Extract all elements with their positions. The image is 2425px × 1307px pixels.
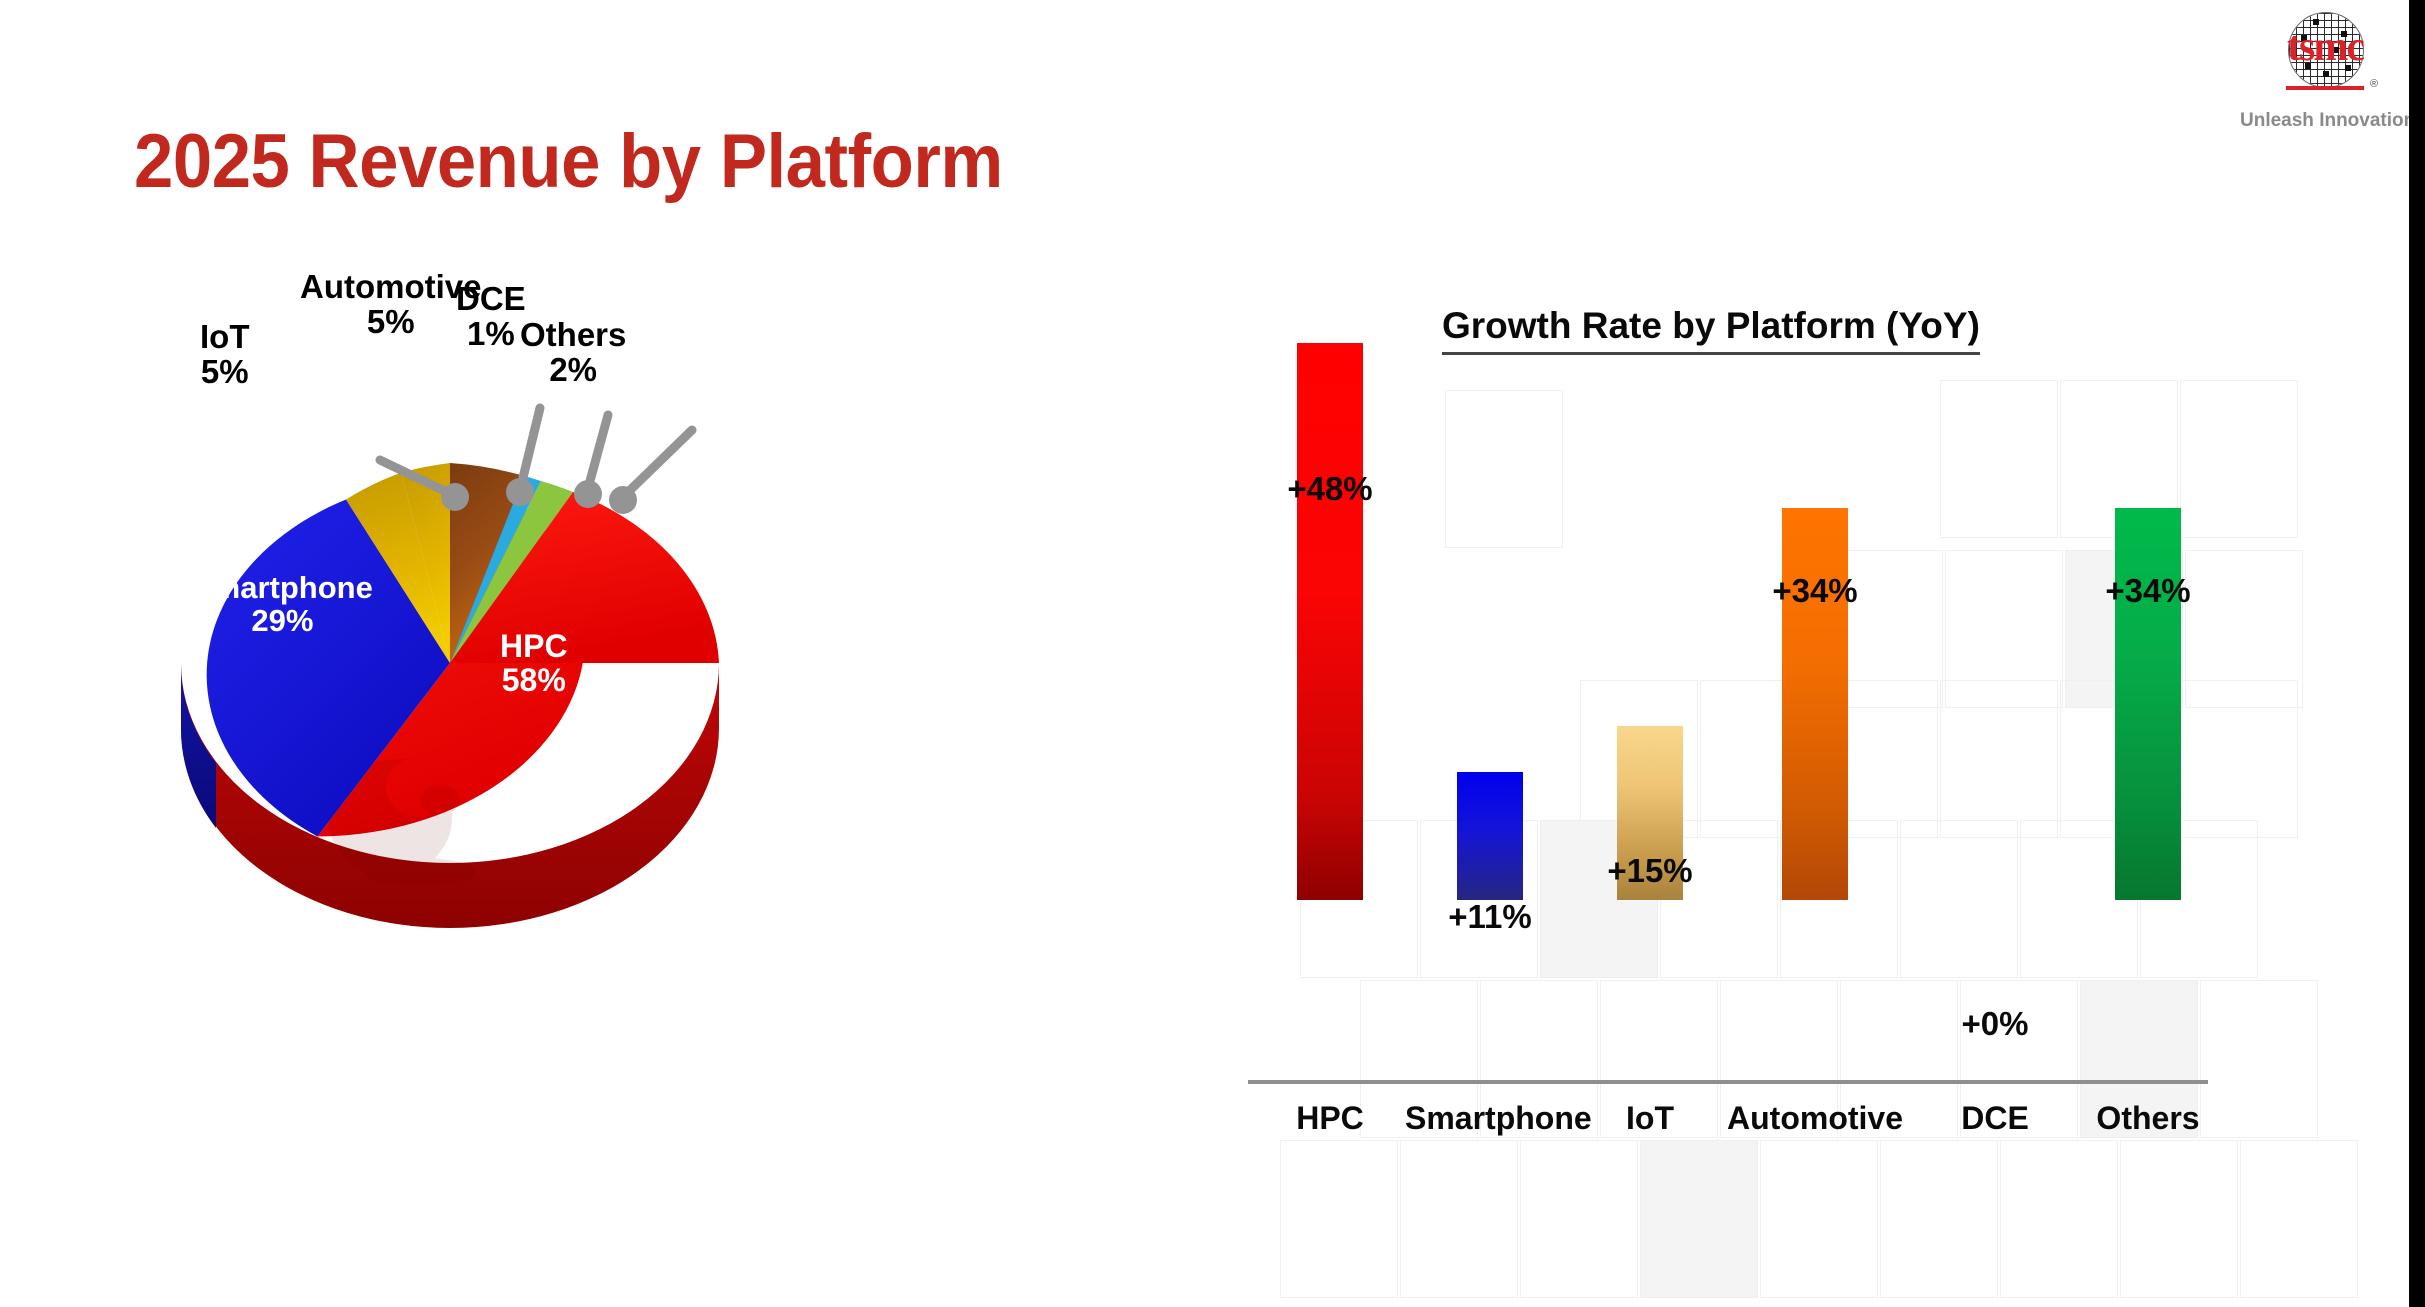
pie-label-automotive-pct: 5% [300,305,482,340]
pie-label-automotive: Automotive 5% [300,270,482,340]
pie-label-dce: DCE 1% [456,282,526,352]
bar-value-hpc: +48% [1260,470,1400,508]
pie-label-iot: IoT 5% [200,320,249,390]
bar-others[interactable] [2115,508,2181,900]
pie-label-dce-name: DCE [456,280,526,317]
pie-label-others: Others 2% [520,318,626,388]
pie-label-smartphone-name: Smartphone [192,570,373,605]
pie-label-others-pct: 2% [520,353,626,388]
pie-label-iot-name: IoT [200,318,249,355]
pie-label-hpc: HPC 58% [500,630,568,698]
growth-rate-bar-chart: Growth Rate by Platform (YoY) +48% HPC +… [1240,180,2415,1307]
bar-value-iot: +15% [1580,852,1720,890]
bar-category-dce: DCE [1925,1100,2065,1137]
pie-label-automotive-name: Automotive [300,268,482,305]
pie-label-dce-pct: 1% [456,317,526,352]
page-title: 2025 Revenue by Platform [134,118,1003,205]
bar-value-others: +34% [2078,572,2218,610]
pie-label-iot-pct: 5% [200,355,249,390]
bar-chart-title: Growth Rate by Platform (YoY) [1442,305,1980,355]
x-axis-line [1248,1080,2208,1084]
bar-automotive[interactable] [1782,508,1848,900]
pie-label-others-name: Others [520,316,626,353]
bar-value-automotive: +34% [1745,572,1885,610]
bar-hpc[interactable] [1297,343,1363,900]
bar-category-hpc: HPC [1260,1100,1400,1137]
bar-category-smartphone: Smartphone [1405,1100,1575,1137]
tsmc-logo-rule [2286,86,2364,90]
bar-value-smartphone: +11% [1420,898,1560,936]
pie-label-smartphone-pct: 29% [192,605,373,638]
bar-category-iot: IoT [1580,1100,1720,1137]
tsmc-logo-mark: tsmc ® [2266,12,2384,96]
bar-category-others: Others [2068,1100,2228,1137]
tsmc-logo: tsmc ® Unleash Innovation [2240,12,2410,152]
tsmc-tagline: Unleash Innovation [2240,110,2410,132]
pie-label-hpc-name: HPC [500,628,568,664]
revenue-pie-chart: IoT 5% Automotive 5% DCE 1% Others 2% Sm… [120,380,940,940]
pie-label-hpc-pct: 58% [500,664,568,698]
right-edge-strip [2409,0,2425,1307]
bar-category-automotive: Automotive [1720,1100,1910,1137]
registered-mark-icon: ® [2370,78,2378,90]
bar-smartphone[interactable] [1457,772,1523,900]
bar-value-dce: +0% [1925,1005,2065,1043]
pie-label-smartphone: Smartphone 29% [192,572,373,638]
tsmc-wordmark: tsmc [2266,26,2384,68]
